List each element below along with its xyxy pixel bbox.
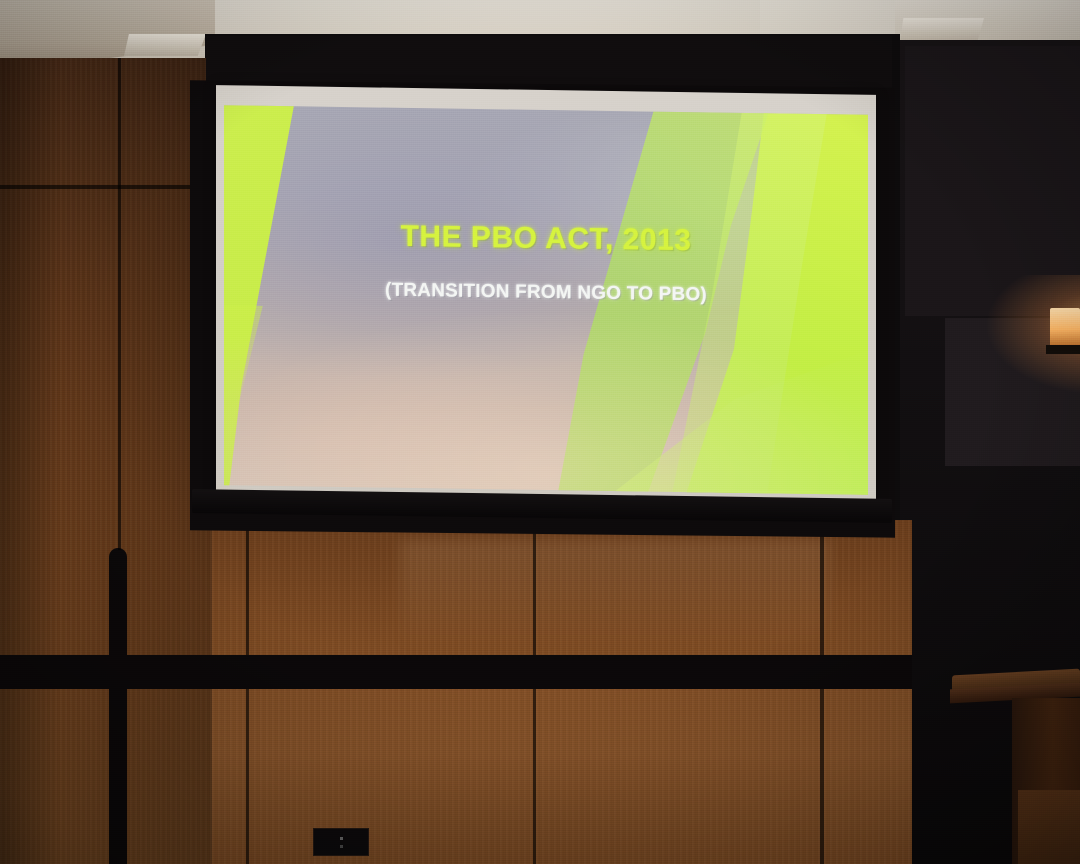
panel-seam	[118, 58, 121, 550]
wood-panel-left	[0, 58, 212, 864]
wall-sconce-shade	[1046, 345, 1080, 354]
wall-control-plate[interactable]	[313, 828, 369, 856]
panel-seam	[533, 524, 536, 655]
recessed-ceiling-slot-right	[900, 18, 984, 42]
projector-screen-housing	[206, 36, 892, 88]
projected-slide: THE PBO ACT, 2013 (TRANSITION FROM NGO T…	[224, 105, 868, 495]
vertical-reveal-groove	[109, 548, 127, 864]
recessed-ceiling-slot-left	[124, 34, 206, 56]
panel-seam	[0, 185, 212, 189]
wall-sconce-light	[1050, 308, 1080, 348]
horizontal-reveal-groove	[0, 655, 912, 689]
panel-seam	[820, 524, 824, 655]
wood-panel-sheen	[400, 540, 830, 650]
panel-seam	[246, 689, 249, 864]
dark-wall-panel-upper	[905, 46, 1080, 316]
slide-text-block: THE PBO ACT, 2013 (TRANSITION FROM NGO T…	[224, 217, 868, 309]
panel-seam	[246, 524, 249, 655]
presentation-room-scene: THE PBO ACT, 2013 (TRANSITION FROM NGO T…	[0, 0, 1080, 864]
lectern-face-panel	[1018, 790, 1080, 864]
wall-plate-indicator	[340, 845, 343, 848]
projector-screen[interactable]: THE PBO ACT, 2013 (TRANSITION FROM NGO T…	[190, 84, 895, 534]
wall-plate-indicator	[340, 837, 343, 840]
panel-seam	[533, 689, 536, 864]
panel-seam	[820, 689, 824, 864]
